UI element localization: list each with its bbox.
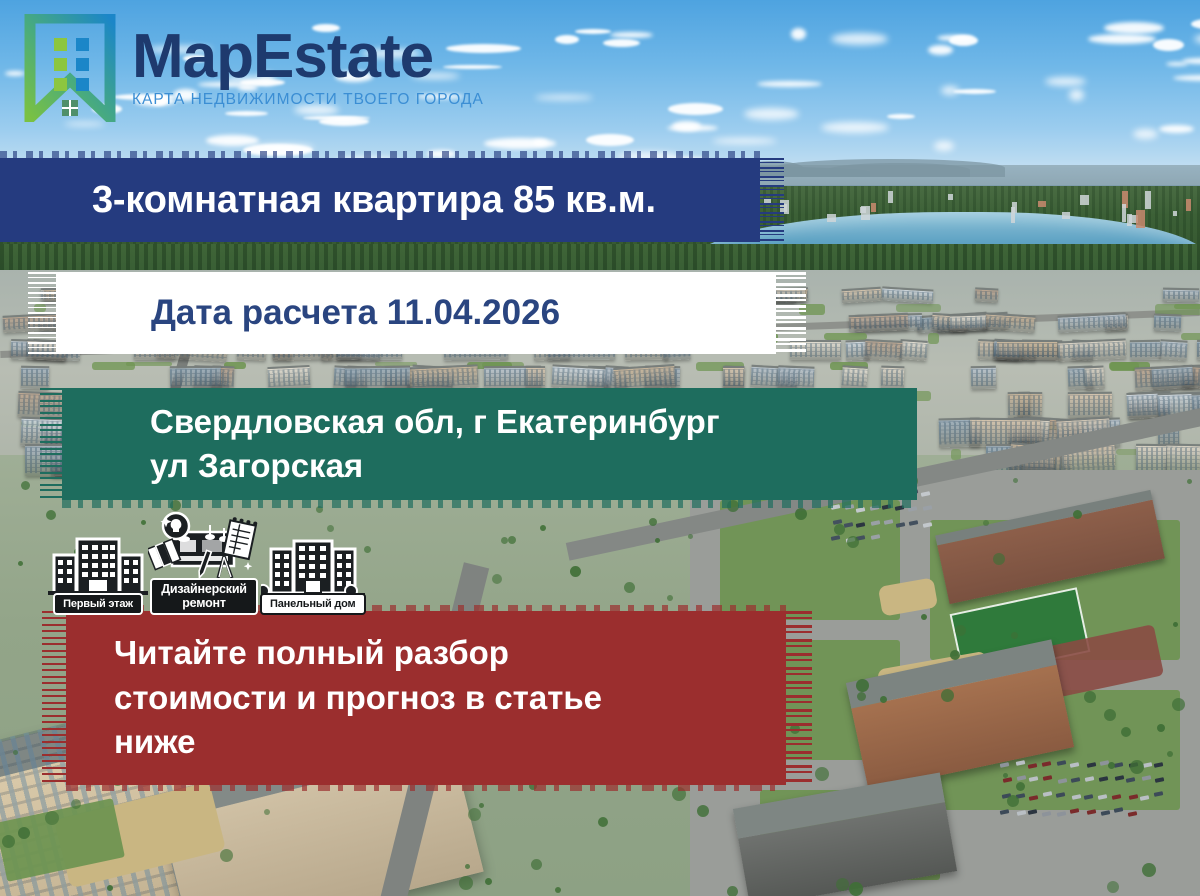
brand-logo[interactable]: MapEstate КАРТА НЕДВИЖИМОСТИ ТВОЕГО ГОРО…: [22, 14, 484, 122]
interior-design-icon: [148, 512, 260, 584]
apartment-building-icon: [46, 533, 150, 599]
feature-label-first-floor: Первый этаж: [53, 593, 143, 615]
address-line-1: Свердловская обл, г Екатеринбург: [150, 400, 720, 444]
cta-line-1: Читайте полный разбор: [114, 631, 509, 676]
address-line-2: ул Загорская: [150, 444, 363, 488]
cta-line-2: стоимости и прогноз в статье: [114, 676, 602, 721]
feature-badge-designer-reno[interactable]: Дизайнерский ремонт: [148, 512, 260, 615]
feature-label-designer-reno: Дизайнерский ремонт: [150, 578, 258, 615]
brand-title: MapEstate: [132, 27, 484, 87]
cta-line-3: ниже: [114, 720, 196, 765]
feature-badges: Первый этаж: [46, 512, 366, 615]
feature-badge-first-floor[interactable]: Первый этаж: [46, 533, 150, 615]
banner-address: Свердловская обл, г Екатеринбург ул Заго…: [62, 388, 917, 500]
banner-date: Дата расчета 11.04.2026: [56, 272, 776, 354]
promo-card: MapEstate КАРТА НЕДВИЖИМОСТИ ТВОЕГО ГОРО…: [0, 0, 1200, 896]
feature-badge-panel-house[interactable]: Панельный дом: [260, 533, 366, 615]
banner-rooms: 3-комнатная квартира 85 кв.м.: [0, 158, 760, 242]
rooms-text: 3-комнатная квартира 85 кв.м.: [92, 179, 656, 222]
date-text: Дата расчета 11.04.2026: [151, 293, 560, 333]
panel-house-icon: [261, 533, 365, 599]
brand-tagline: КАРТА НЕДВИЖИМОСТИ ТВОЕГО ГОРОДА: [132, 91, 484, 109]
bookmark-building-logo-icon: [22, 14, 118, 122]
banner-cta[interactable]: Читайте полный разбор стоимости и прогно…: [66, 611, 786, 785]
feature-label-panel-house: Панельный дом: [260, 593, 366, 615]
